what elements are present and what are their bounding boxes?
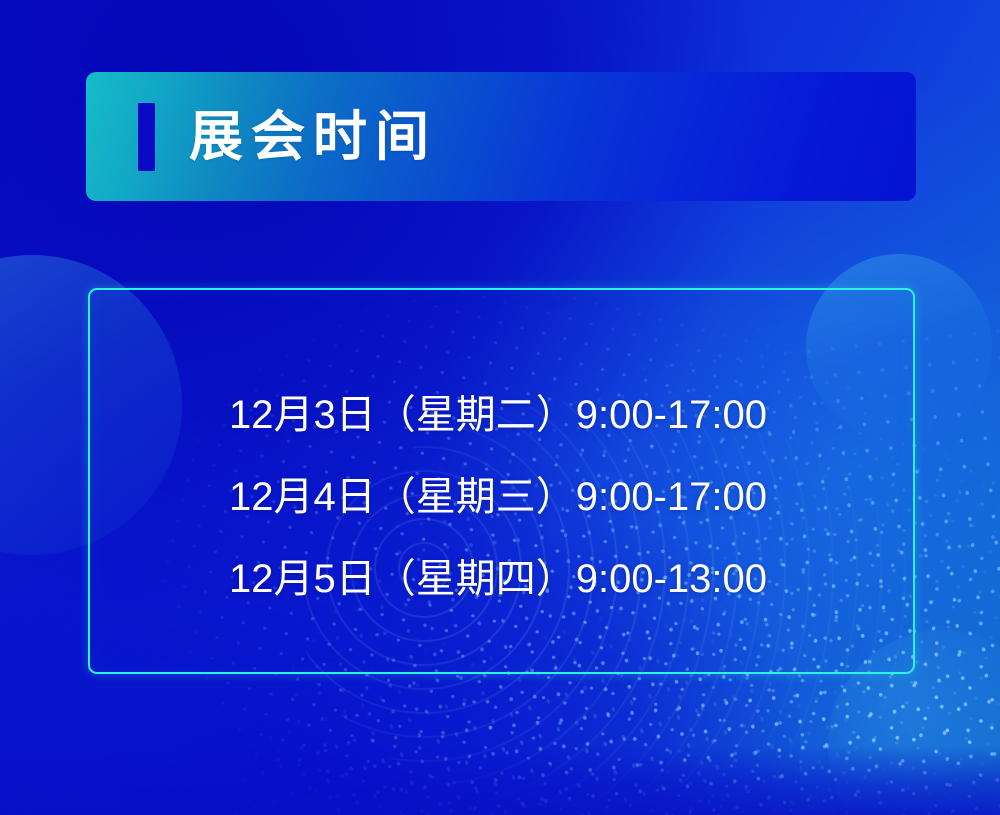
page-title: 展会时间 bbox=[189, 110, 437, 164]
schedule-row: 12月3日（星期二）9:00-17:00 bbox=[229, 374, 829, 456]
schedule-row: 12月5日（星期四）9:00-13:00 bbox=[229, 538, 829, 620]
schedule-row: 12月4日（星期三）9:00-17:00 bbox=[229, 456, 829, 538]
background-bottom-vignette bbox=[0, 745, 1000, 815]
title-banner: 展会时间 bbox=[86, 72, 916, 201]
title-accent-bar-icon bbox=[138, 103, 155, 171]
exhibition-time-poster: 展会时间 12月3日（星期二）9:00-17:00 12月4日（星期三）9:00… bbox=[0, 0, 1000, 815]
schedule-list: 12月3日（星期二）9:00-17:00 12月4日（星期三）9:00-17:0… bbox=[229, 374, 829, 620]
